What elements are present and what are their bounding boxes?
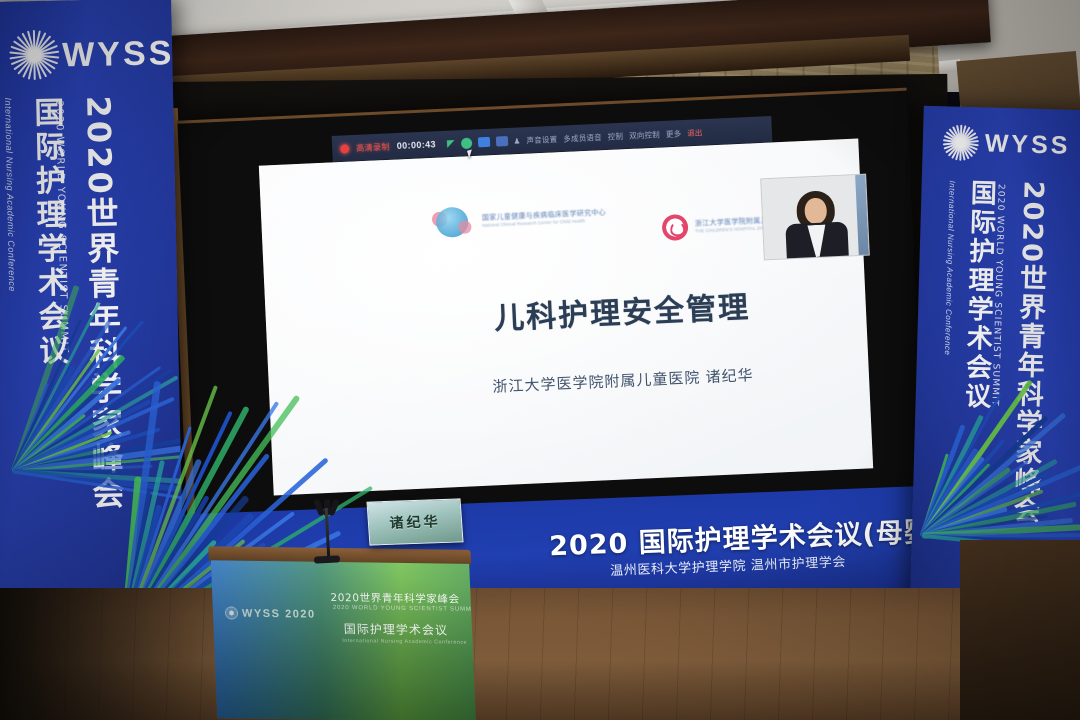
globe-logo-icon [431, 202, 473, 242]
podium-front-panel: WYSS 2020 2020世界青年科学家峰会 2020 WORLD YOUNG… [211, 560, 476, 720]
speaker-name-card: 诸纪华 [366, 498, 463, 545]
wifi-icon[interactable]: ◤ [447, 138, 455, 149]
left-banner-brand: WYSS [62, 34, 175, 75]
podium: WYSS 2020 2020世界青年科学家峰会 2020 WORLD YOUNG… [208, 546, 478, 720]
podium-brand: WYSS 2020 [225, 606, 316, 620]
more-button[interactable]: 更多 [666, 128, 682, 140]
toolbar-icon-group[interactable]: ◤ ♟ 声音设置 多成员语音 控制 双向控制 更多 退出 [447, 127, 703, 150]
record-button[interactable]: 控制 [607, 130, 623, 142]
microphone-icon[interactable]: ♟ [513, 136, 520, 145]
audio-settings-button[interactable]: 声音设置 [526, 133, 557, 145]
sunburst-icon [225, 606, 239, 619]
sunburst-icon [6, 26, 63, 83]
microphone-base [314, 555, 340, 563]
participants-button[interactable]: 多成员语音 [563, 131, 602, 144]
podium-cn-2: 国际护理学术会议 [343, 620, 448, 638]
stage-floor-right-shadow [960, 540, 1080, 720]
podium-en-1: 2020 WORLD YOUNG SCIENTIST SUMMIT [333, 605, 476, 613]
sunburst-icon [940, 122, 981, 163]
network-status-icon[interactable] [460, 137, 471, 148]
meeting-timer: 00:00:43 [397, 139, 437, 151]
right-banner-brand: WYSS [984, 129, 1070, 160]
podium-en-2: International Nursing Academic Conferenc… [342, 638, 467, 646]
presenter-video-thumbnail[interactable] [760, 174, 870, 261]
annotation-button[interactable]: 双向控制 [629, 129, 660, 141]
screen-share-icon[interactable] [495, 136, 507, 147]
camera-icon[interactable] [477, 137, 489, 148]
stage-floor-shadow [0, 588, 240, 720]
speaker-name-label: 诸纪华 [389, 511, 441, 533]
right-banner-cn-2: 国际护理学术会议 [957, 179, 1000, 412]
left-banner-en-2: International Nursing Academic Conferenc… [3, 97, 17, 291]
exit-button[interactable]: 退出 [687, 127, 702, 139]
right-banner-en-2: International Nursing Academic Conferenc… [943, 180, 957, 355]
hospital-badge-icon [662, 214, 689, 241]
podium-brand-label: WYSS 2020 [242, 607, 316, 620]
conference-stage-photo: 高清录制 00:00:43 ◤ ♟ 声音设置 多成员语音 控制 双向控制 更多 … [0, 0, 1080, 720]
recording-label: 高清录制 [356, 141, 390, 154]
recording-indicator-icon [340, 144, 349, 153]
